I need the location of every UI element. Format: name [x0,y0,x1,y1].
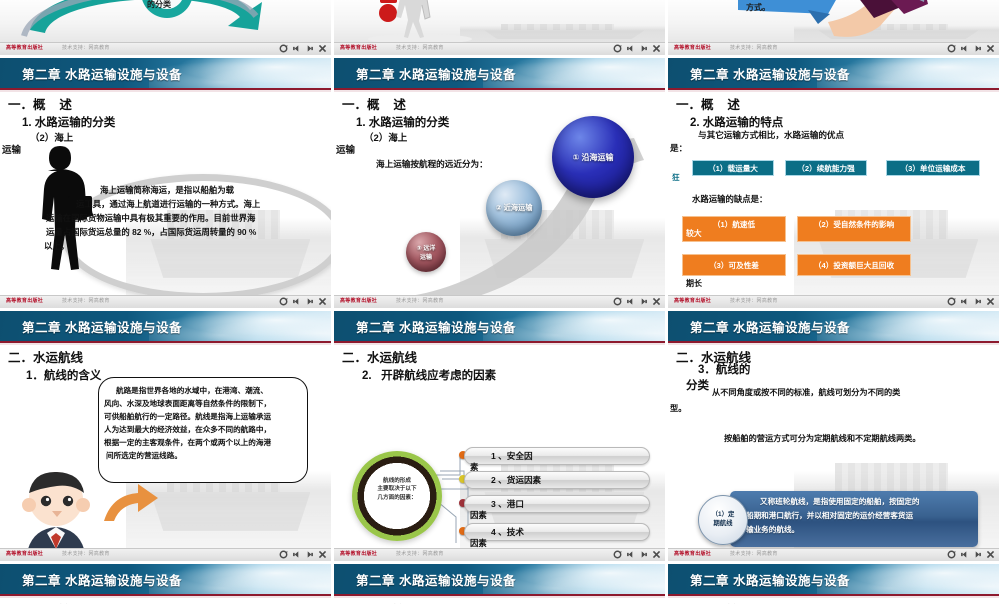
slide-header-title: 第二章 水路运输设施与设备 [22,317,182,336]
slide-thumbnail-1[interactable]: 第二章 水路运输设施与设备 一．概 述 1. 水路运输的分类 （2）海上 运输 … [0,58,331,308]
footer-publisher: 高等教育出版社 [340,550,377,557]
factor-pill-3: 3 、港口 [464,495,650,513]
prev-icon[interactable] [626,44,635,53]
definition-badge: （1）定 期航线 [698,495,748,545]
advantage-chip-3: （3）单位运输成本 [886,160,980,176]
slide-header-title: 第二章 水路运输设施与设备 [356,317,516,336]
close-icon[interactable] [986,44,995,53]
thumbnail-top-1[interactable]: 的分类 高等教育出版社 技术支持：网高教育 [0,0,331,55]
sphere-3: ③ 远洋 运输 [406,232,446,272]
banner-line-1: 又称班轮航线，是指使用固定的船舶，按固定的 [760,495,972,508]
factor-pill-2-label: 2 、货运因素 [491,475,541,485]
prev-icon[interactable] [960,297,969,306]
next-icon[interactable] [639,297,648,306]
slide-subheading-overflow: 是： [670,142,687,154]
thumbnail-top-2[interactable]: 高等教育出版社 技术支持：网高教育 [334,0,665,55]
section-title: 二．水运航线 [342,347,417,366]
footer-bar: 高等教育出版社 技术支持：网高教育 [0,548,331,561]
callout-line-2: 风向、水深及地球表面距离等自然条件的限制下， [104,398,271,409]
footer-support: 技术支持：网高教育 [62,44,110,51]
footer-bar: 高等教育出版社 技术支持：网高教育 [0,295,331,308]
close-icon[interactable] [318,297,327,306]
column-gutter-2 [665,0,668,600]
advantage-chip-1: （1）载运量大 [692,160,774,176]
slide-heading: 1．航线的含义 [26,367,101,383]
slide-header-title: 第二章 水路运输设施与设备 [690,317,850,336]
refresh-icon[interactable] [947,550,956,559]
disadvantage-chip-3: （3）可及性差 [682,254,786,276]
footer-support: 技术支持：网高教育 [730,297,778,304]
column-gutter-1 [331,0,334,600]
slide-heading-overflow: 分类 [686,377,709,393]
footer-nav [279,550,327,559]
footer-publisher: 高等教育出版社 [674,550,711,557]
footer-bar: 高等教育出版社 技术支持：网高教育 [0,42,331,55]
refresh-icon[interactable] [947,297,956,306]
footer-publisher: 高等教育出版社 [340,44,377,51]
close-icon[interactable] [318,44,327,53]
sphere-1: ① 沿海运输 [552,116,634,198]
footer-bar: 高等教育出版社 技术支持：网高教育 [334,42,665,55]
disadvantage-chip-3-label: （3）可及性差 [709,261,759,270]
prev-icon[interactable] [292,44,301,53]
slide-thumbnail-5[interactable]: 第二章 水路运输设施与设备 二．水运航线 2. 开辟航线应考虑的因素 航线的形成… [334,311,665,561]
row-gutter-3 [0,561,1000,564]
factor-pill-4-label: 4 、技术 [491,527,524,537]
ring-label: 航线的形成 主要取决于以下 几方面的因素： [362,477,432,502]
footer-support: 技术支持：网高教育 [62,297,110,304]
footer-publisher: 高等教育出版社 [340,297,377,304]
next-icon[interactable] [973,550,982,559]
callout-line-5: 根据一定的主客观条件，在两个或两个以上的海港 [104,437,271,448]
close-icon[interactable] [318,550,327,559]
slide-thumbnail-2[interactable]: 第二章 水路运输设施与设备 一．概 述 1. 水路运输的分类 （2）海上 运输 … [334,58,665,308]
top-slide-3-text: 方式。 [746,2,770,13]
footer-publisher: 高等教育出版社 [674,44,711,51]
footer-bar: 高等教育出版社 技术支持：网高教育 [334,548,665,561]
footer-nav [613,297,661,306]
section-title: 一．概 述 [676,94,740,113]
prev-icon[interactable] [626,297,635,306]
footer-nav [613,550,661,559]
footer-nav [947,297,995,306]
section-title: 二．水运航线 [8,600,83,604]
sphere-3-label: ③ 远洋 运输 [417,243,436,261]
header-rule-light [334,596,665,598]
slide-heading: 2. 开辟航线应考虑的因素 [362,367,496,383]
refresh-icon[interactable] [613,297,622,306]
factor-pill-1-label: 1 、安全因 [491,451,533,461]
callout-line-4: 人为达到最大的经济效益，在众多不同的航路中， [104,424,271,435]
footer-publisher: 高等教育出版社 [6,297,43,304]
disadvantages-lead: 水路运输的缺点是： [692,193,767,206]
refresh-icon[interactable] [613,550,622,559]
slide-heading: 1. 水路运输的分类 [22,114,115,130]
thumbnail-top-3[interactable]: 方式。 高等教育出版社 技术支持：网高教育 [668,0,999,55]
cartoon-businessman-icon [4,471,114,549]
refresh-icon[interactable] [279,44,288,53]
white-3d-figure-icon [362,0,522,43]
body-line-1: 海上运输简称海运，是指以船舶为载 [100,184,322,197]
slide-header-title: 第二章 水路运输设施与设备 [690,64,850,83]
disadvantage-chip-4-label: （4）投资额巨大且回收 [814,261,894,270]
blue-banner-shape-icon [668,0,999,44]
footer-nav [947,550,995,559]
slide-heading: 2. 水路运输的特点 [690,114,783,130]
thumbnail-bottom-3[interactable]: 第二章 水路运输设施与设备 二．水运航线 [668,564,999,604]
next-icon[interactable] [639,550,648,559]
footer-support: 技术支持：网高教育 [62,550,110,557]
next-icon[interactable] [973,44,982,53]
section-title: 二．水运航线 [342,600,417,604]
footer-publisher: 高等教育出版社 [674,297,711,304]
close-icon[interactable] [652,297,661,306]
next-icon[interactable] [305,297,314,306]
close-icon[interactable] [652,44,661,53]
slide-subheading: 与其它运输方式相比，水路运输的优点 [698,129,844,141]
slide-header-title: 第二章 水路运输设施与设备 [22,570,182,589]
close-icon[interactable] [986,297,995,306]
section-title: 二．水运航线 [8,347,83,366]
slide-header-title: 第二章 水路运输设施与设备 [690,570,850,589]
slide-subheading-overflow: 运输 [2,142,21,156]
header-rule-light [0,596,331,598]
next-icon[interactable] [639,44,648,53]
section-title: 一．概 述 [8,94,72,113]
footer-nav [279,44,327,53]
body-line-4: 运量占国际货运总量的 82 %，占国际货运周转量的 90 % [46,226,331,239]
thumbnail-bottom-1[interactable]: 第二章 水路运输设施与设备 二．水运航线 [0,564,331,604]
factor-pill-2: 2 、货运因素 [464,471,650,489]
advantage-chip-1-label: （1）载运量大 [708,164,758,173]
prev-icon[interactable] [960,550,969,559]
disadvantage-chip-2: （2）受自然条件的影响 [797,216,911,242]
sphere-2-label: ② 近海运输 [496,203,533,213]
footer-support: 技术支持：网高教育 [396,297,444,304]
next-icon[interactable] [305,44,314,53]
section-title: 二．水运航线 [676,600,751,604]
banner-line-2: 船期和港口航行，并以相对固定的运价经营客货运 [746,509,972,522]
close-icon[interactable] [652,550,661,559]
footer-support: 技术支持：网高教育 [730,550,778,557]
factor-pill-4: 4 、技术 [464,523,650,541]
slide-thumbnail-3[interactable]: 第二章 水路运输设施与设备 一．概 述 2. 水路运输的特点 与其它运输方式相比… [668,58,999,308]
body-line-2: 型。 [670,403,686,416]
callout-line-6: 间所选定的营运线路。 [106,450,182,461]
footer-bar: 高等教育出版社 技术支持：网高教育 [668,548,999,561]
body-line-3: 按船舶的营运方式可分为定期航线和不定期航线两类。 [724,433,921,446]
prev-icon[interactable] [626,550,635,559]
body-line-3: 运输在国际货物运输中具有极其重要的作用。目前世界海 [46,212,331,225]
factor-pill-3-label: 3 、港口 [491,499,524,509]
refresh-icon[interactable] [279,297,288,306]
sphere-2: ② 近海运输 [486,180,542,236]
slide-thumbnail-6[interactable]: 第二章 水路运输设施与设备 二．水运航线 3．航线的 分类 从不同角度或按不同的… [668,311,999,561]
slide-header-title: 第二章 水路运输设施与设备 [356,64,516,83]
slide-thumbnail-4[interactable]: 第二章 水路运输设施与设备 二．水运航线 1．航线的含义 航路是指世界各地的水域… [0,311,331,561]
footer-support: 技术支持：网高教育 [730,44,778,51]
footer-bar: 高等教育出版社 技术支持：网高教育 [668,295,999,308]
footer-publisher: 高等教育出版社 [6,44,43,51]
row-gutter-2 [0,308,1000,311]
slide-contact-sheet: 的分类 高等教育出版社 技术支持：网高教育 高等教育出版社 技术支持：网高教育 [0,0,1000,600]
footer-bar: 高等教育出版社 技术支持：网高教育 [334,295,665,308]
footer-support: 技术支持：网高教育 [396,550,444,557]
factor-pill-3-overflow: 因素 [470,509,487,522]
callout-line-3: 可供船舶航行的一定路径。航线是指海上运输承运 [104,411,271,422]
prev-icon[interactable] [292,297,301,306]
disadvantage-chip-4: （4）投资额巨大且回收 [797,254,911,276]
footer-publisher: 高等教育出版社 [6,550,43,557]
advantage-chip-2-label: （2）续航能力强 [797,164,854,173]
disadvantage-chip-4-overflow: 期长 [686,278,702,290]
header-rule-light [668,596,999,598]
footer-support: 技术支持：网高教育 [396,44,444,51]
body-line-5: 以上。 [44,240,69,253]
next-icon[interactable] [973,297,982,306]
footer-nav [947,44,995,53]
refresh-icon[interactable] [613,44,622,53]
advantage-chip-1-overflow: 狂 [672,172,680,184]
disadvantage-chip-1-overflow: 较大 [686,228,702,240]
refresh-icon[interactable] [947,44,956,53]
body-line-1: 从不同角度或按不同的标准，航线可划分为不同的类 [712,387,900,400]
footer-nav [279,297,327,306]
body-line-2: 运工具，通过海上航道进行运输的一种方式。海上 [76,198,326,211]
row-gutter-1 [0,55,1000,58]
next-icon[interactable] [305,550,314,559]
prev-icon[interactable] [292,550,301,559]
footer-bar: 高等教育出版社 技术支持：网高教育 [668,42,999,55]
advantage-chip-3-label: （3）单位运输成本 [901,164,966,173]
advantage-chip-2: （2）续航能力强 [785,160,867,176]
footer-nav [613,44,661,53]
disadvantage-chip-2-label: （2）受自然条件的影响 [814,220,894,229]
sphere-1-label: ① 沿海运输 [573,152,614,163]
slide-heading: 3．航线的 [698,361,750,377]
banner-line-3: 输业务的航线。 [746,523,972,536]
callout-line-1: 航路是指世界各地的水域中，在港湾、潮流、 [116,385,268,396]
slide-header-title: 第二章 水路运输设施与设备 [356,570,516,589]
prev-icon[interactable] [960,44,969,53]
thumbnail-bottom-2[interactable]: 第二章 水路运输设施与设备 二．水运航线 [334,564,665,604]
slide-subheading: （2）海上 [30,130,73,144]
slide-header-title: 第二章 水路运输设施与设备 [22,64,182,83]
close-icon[interactable] [986,550,995,559]
disadvantage-chip-1-label: （1）航速低 [713,220,755,229]
factor-pill-1: 1 、安全因 [464,447,650,465]
top-slide-1-text: 的分类 [147,0,171,10]
refresh-icon[interactable] [279,550,288,559]
